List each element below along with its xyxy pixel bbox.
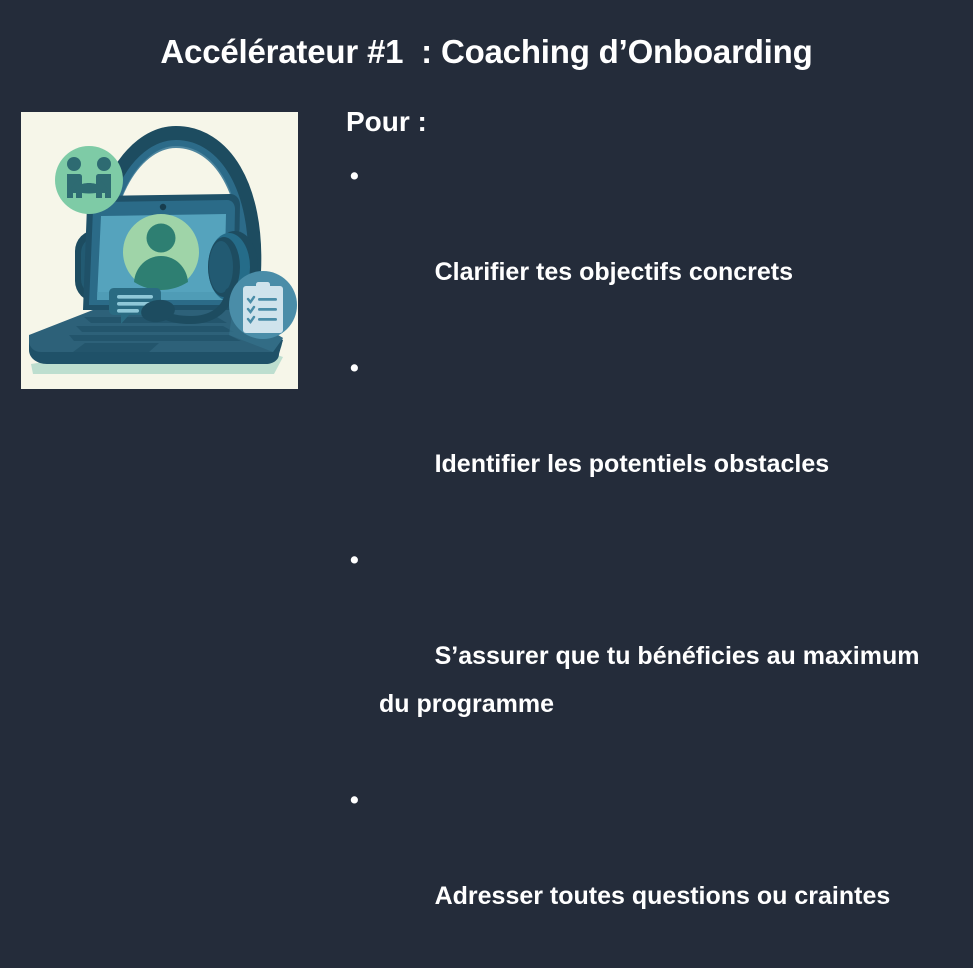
list-item-label: Clarifier tes objectifs concrets: [435, 258, 793, 286]
clipboard-checklist-icon: [243, 282, 283, 333]
laptop-trackpad: [73, 343, 159, 352]
laptop-camera-icon: [160, 204, 166, 210]
list-item: • Adresser toutes questions ou craintes: [346, 776, 939, 968]
list-item-label: Adresser toutes questions ou craintes: [435, 882, 891, 910]
slide-root: Accélérateur #1 : Coaching d’Onboarding: [0, 0, 973, 544]
bullet-marker-icon: •: [350, 152, 359, 200]
page-title: Accélérateur #1 : Coaching d’Onboarding: [0, 33, 973, 71]
bullet-marker-icon: •: [350, 536, 359, 584]
bullet-list: • Clarifier tes objectifs concrets • Ide…: [346, 152, 946, 968]
checklist-badge: [229, 271, 297, 339]
bullet-marker-icon: •: [350, 344, 359, 392]
list-item: • Clarifier tes objectifs concrets: [346, 152, 939, 344]
list-item-label: S’assurer que tu bénéficies au maximum d…: [379, 642, 926, 718]
list-item-label: Identifier les potentiels obstacles: [435, 450, 830, 478]
handshake-badge: [55, 146, 123, 214]
content-text-column: Pour : • Clarifier tes objectifs concret…: [346, 108, 946, 968]
bullet-marker-icon: •: [350, 776, 359, 824]
online-coaching-illustration: [21, 112, 298, 389]
avatar-icon: [123, 214, 199, 290]
illustration-card: [21, 112, 298, 389]
list-item: • S’assurer que tu bénéficies au maximum…: [346, 536, 939, 776]
list-item: • Identifier les potentiels obstacles: [346, 344, 939, 536]
content-heading: Pour :: [346, 108, 946, 136]
